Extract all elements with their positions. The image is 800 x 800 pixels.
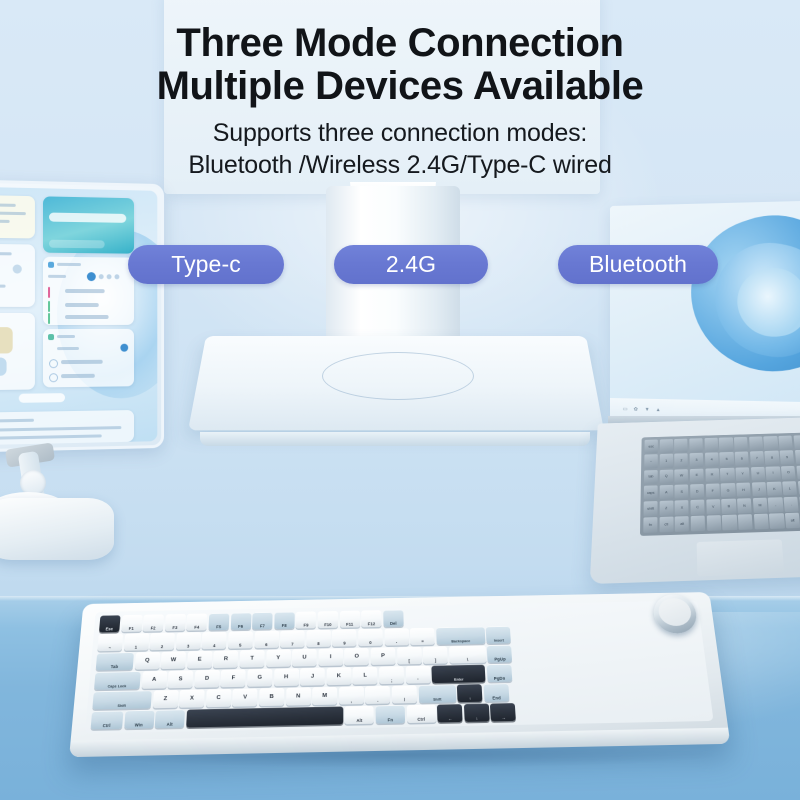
- laptop-key[interactable]: [749, 436, 763, 450]
- key-f12[interactable]: F12: [361, 610, 381, 627]
- key-ctrl[interactable]: Ctrl: [406, 705, 436, 723]
- laptop-key[interactable]: shift: [644, 501, 658, 516]
- key-k[interactable]: K: [327, 667, 352, 684]
- key-1[interactable]: 1: [124, 633, 150, 650]
- key-space[interactable]: [: [397, 647, 422, 664]
- mechanical-keyboard[interactable]: EscF1F2F3F4F5F6F7F8F9F10F11F12Del~123456…: [69, 592, 730, 757]
- search-widget-chip[interactable]: [49, 240, 105, 249]
- laptop-key[interactable]: alt: [675, 516, 689, 532]
- key-j[interactable]: J: [300, 668, 325, 685]
- key-p[interactable]: P: [371, 647, 396, 664]
- key-w[interactable]: W: [161, 651, 187, 668]
- key-space[interactable]: ~: [97, 634, 123, 651]
- key-9[interactable]: 9: [332, 629, 356, 646]
- laptop-key[interactable]: [691, 516, 705, 532]
- laptop-key[interactable]: [793, 435, 800, 449]
- key-l[interactable]: L: [353, 667, 378, 684]
- laptop-key[interactable]: B: [722, 499, 737, 514]
- key-pgdn[interactable]: PgDn: [486, 664, 512, 681]
- laptop-key[interactable]: 8: [765, 451, 780, 465]
- key-i[interactable]: I: [318, 648, 343, 665]
- key-b[interactable]: B: [259, 688, 284, 706]
- key-space[interactable]: -: [384, 628, 409, 645]
- laptop-key[interactable]: [689, 438, 703, 452]
- key-t[interactable]: T: [240, 650, 265, 667]
- key-f3[interactable]: F3: [165, 614, 186, 631]
- key-x[interactable]: X: [179, 690, 205, 708]
- widget-card-todo[interactable]: [43, 329, 134, 388]
- key-space[interactable]: ,: [339, 686, 364, 704]
- badge-type-c-label: Type-c: [171, 251, 241, 278]
- key-f11[interactable]: F11: [340, 611, 360, 628]
- laptop-key[interactable]: tab: [644, 470, 658, 485]
- laptop-trackpad[interactable]: [697, 539, 785, 576]
- chevron-up-icon[interactable]: ▲: [656, 407, 662, 413]
- key-f5[interactable]: F5: [208, 613, 229, 630]
- laptop-key[interactable]: S: [675, 484, 689, 499]
- network-icon[interactable]: ▭: [623, 406, 629, 412]
- laptop-key[interactable]: [707, 515, 722, 531]
- laptop-key[interactable]: ctl: [659, 517, 673, 533]
- laptop-key[interactable]: 0: [795, 450, 800, 464]
- tablet-device[interactable]: [0, 180, 164, 452]
- laptop-key[interactable]: 6: [735, 452, 749, 466]
- key-tab[interactable]: Tab: [96, 652, 134, 669]
- add-widgets-button[interactable]: [19, 393, 65, 403]
- key-end[interactable]: End: [483, 684, 509, 702]
- laptop-key[interactable]: K: [767, 481, 782, 496]
- key-enter[interactable]: Enter: [432, 665, 486, 683]
- key-shift[interactable]: Shift: [418, 685, 456, 703]
- key-f2[interactable]: F2: [143, 614, 164, 631]
- key-c[interactable]: C: [206, 689, 232, 707]
- key-u[interactable]: U: [292, 649, 317, 666]
- widget-card-note[interactable]: [0, 195, 35, 239]
- key-esc[interactable]: Esc: [99, 615, 121, 632]
- laptop-key[interactable]: 4: [705, 453, 719, 467]
- key-8[interactable]: 8: [306, 630, 330, 647]
- laptop-key[interactable]: caps: [644, 485, 658, 500]
- laptop-key[interactable]: C: [690, 500, 704, 515]
- laptop-key[interactable]: F: [706, 483, 720, 498]
- laptop-key[interactable]: O: [781, 466, 796, 480]
- key-space[interactable]: ↑: [457, 684, 483, 702]
- key-space[interactable]: ←: [437, 704, 463, 722]
- key-d[interactable]: D: [194, 670, 220, 687]
- laptop-key[interactable]: .: [784, 497, 799, 512]
- tablet-screen[interactable]: [0, 187, 157, 445]
- laptop-key[interactable]: [674, 439, 688, 453]
- key-7[interactable]: 7: [280, 630, 305, 647]
- laptop-key[interactable]: G: [721, 483, 735, 498]
- laptop-key[interactable]: 1: [659, 454, 673, 468]
- key-a[interactable]: A: [141, 671, 167, 688]
- key-f7[interactable]: F7: [252, 612, 273, 629]
- key-r[interactable]: R: [213, 650, 238, 667]
- key-space[interactable]: /: [392, 685, 417, 703]
- laptop-key[interactable]: Z: [659, 501, 673, 516]
- key-f6[interactable]: F6: [230, 613, 251, 630]
- laptop-keyboard[interactable]: escdel~1234567890-=bksptabQWERTYUIOP[]\c…: [640, 431, 800, 536]
- subheadline-line-2: Bluetooth /Wireless 2.4G/Type-C wired: [0, 150, 800, 182]
- laptop-screen: ▭ ✿ ▼ ▲: [610, 200, 800, 426]
- key-fn[interactable]: Fn: [376, 705, 406, 723]
- laptop-key[interactable]: N: [737, 498, 752, 513]
- key-f10[interactable]: F10: [318, 611, 338, 628]
- laptop-key[interactable]: fn: [643, 517, 657, 533]
- badge-bluetooth[interactable]: Bluetooth: [558, 245, 718, 284]
- laptop-key[interactable]: [722, 515, 737, 530]
- laptop-key[interactable]: [764, 436, 778, 450]
- laptop-key[interactable]: [660, 439, 673, 453]
- laptop-key[interactable]: [754, 514, 769, 529]
- tablet-stand-base: [0, 498, 114, 560]
- key-caps-lock[interactable]: Caps Lock: [94, 671, 141, 689]
- key-f[interactable]: F: [221, 669, 246, 686]
- key-m[interactable]: M: [312, 687, 337, 705]
- laptop-key[interactable]: 3: [690, 453, 704, 467]
- key-shift[interactable]: Shift: [92, 691, 152, 709]
- laptop-key[interactable]: A: [659, 485, 673, 500]
- widget-card-search[interactable]: [43, 196, 134, 253]
- laptop-key[interactable]: M: [753, 498, 768, 513]
- laptop-key[interactable]: 9: [780, 450, 795, 464]
- badge-bluetooth-label: Bluetooth: [589, 251, 687, 278]
- key-space[interactable]: .: [365, 686, 390, 704]
- laptop-key[interactable]: [769, 513, 784, 528]
- headline-line-2: Multiple Devices Available: [0, 65, 800, 108]
- laptop-key[interactable]: L: [782, 481, 797, 496]
- laptop-key[interactable]: H: [736, 482, 751, 497]
- laptop-key[interactable]: V: [706, 499, 720, 514]
- key-s[interactable]: S: [168, 670, 194, 687]
- key-ctrl[interactable]: Ctrl: [91, 711, 124, 729]
- key-f4[interactable]: F4: [187, 614, 208, 631]
- key-2[interactable]: 2: [150, 633, 175, 650]
- key-win[interactable]: Win: [124, 710, 155, 728]
- key-space[interactable]: →: [490, 703, 516, 721]
- key-y[interactable]: Y: [266, 649, 291, 666]
- laptop-key[interactable]: E: [690, 468, 704, 482]
- laptop-key[interactable]: U: [751, 466, 766, 480]
- laptop-key[interactable]: Q: [659, 469, 673, 484]
- widget-card-news[interactable]: [0, 410, 134, 445]
- laptop-key[interactable]: J: [752, 482, 767, 497]
- key-space[interactable]: ↓: [464, 704, 490, 722]
- key-space[interactable]: =: [410, 628, 435, 645]
- laptop-key[interactable]: I: [766, 466, 781, 480]
- key-3[interactable]: 3: [176, 632, 201, 649]
- laptop-key[interactable]: [704, 438, 718, 452]
- laptop-key[interactable]: X: [675, 500, 689, 515]
- sound-icon[interactable]: ✿: [634, 407, 640, 413]
- key-z[interactable]: Z: [152, 690, 178, 708]
- headline-line-1: Three Mode Connection: [0, 22, 800, 65]
- laptop-key[interactable]: W: [675, 469, 689, 484]
- key-space[interactable]: \: [449, 646, 487, 663]
- search-input[interactable]: [49, 213, 126, 223]
- key-f1[interactable]: F1: [121, 615, 142, 632]
- key-4[interactable]: 4: [202, 632, 227, 649]
- key-space[interactable]: ': [405, 666, 430, 683]
- key-del[interactable]: Del: [383, 610, 403, 627]
- key-e[interactable]: E: [187, 651, 212, 668]
- laptop-deck: escdel~1234567890-=bksptabQWERTYUIOP[]\c…: [590, 416, 800, 584]
- key-alt[interactable]: Alt: [155, 710, 185, 728]
- widget-card-calendar[interactable]: [43, 257, 134, 325]
- key-space[interactable]: ;: [379, 666, 404, 683]
- key-alt[interactable]: Alt: [345, 706, 374, 724]
- widget-card-weather[interactable]: [0, 244, 35, 307]
- key-0[interactable]: 0: [358, 629, 383, 646]
- laptop-key[interactable]: Y: [736, 467, 750, 481]
- key-q[interactable]: Q: [134, 652, 160, 669]
- windows-bloom-icon: [674, 205, 800, 407]
- laptop-key[interactable]: R: [705, 468, 719, 482]
- key-v[interactable]: V: [232, 688, 257, 706]
- volume-knob-face: [657, 598, 693, 626]
- key-f9[interactable]: F9: [296, 611, 316, 628]
- widget-card-photo[interactable]: [0, 313, 35, 390]
- laptop-key[interactable]: esc: [644, 440, 657, 454]
- monitor-base-ring: [322, 352, 474, 400]
- page-subtitle: Supports three connection modes: Bluetoo…: [0, 118, 800, 182]
- badge-type-c[interactable]: Type-c: [128, 245, 284, 284]
- key-insert[interactable]: Insert: [486, 626, 511, 643]
- laptop-key[interactable]: ,: [768, 497, 783, 512]
- key-space[interactable]: [186, 706, 343, 727]
- key-6[interactable]: 6: [254, 631, 279, 648]
- laptop-key[interactable]: 5: [720, 452, 734, 466]
- key-5[interactable]: 5: [228, 631, 253, 648]
- page-title: Three Mode Connection Multiple Devices A…: [0, 22, 800, 108]
- key-o[interactable]: O: [345, 648, 370, 665]
- key-pgup[interactable]: PgUp: [487, 645, 512, 662]
- key-f8[interactable]: F8: [274, 612, 294, 629]
- laptop-key[interactable]: [779, 436, 793, 450]
- wifi-icon[interactable]: ▼: [645, 407, 651, 413]
- laptop-key[interactable]: P: [796, 465, 800, 479]
- laptop-key[interactable]: 2: [675, 453, 689, 467]
- laptop-key[interactable]: ~: [644, 454, 658, 468]
- badge-2-4g[interactable]: 2.4G: [334, 245, 488, 284]
- key-backspace[interactable]: Backspace: [436, 627, 485, 644]
- laptop-key[interactable]: [734, 437, 748, 451]
- laptop-key[interactable]: [738, 514, 753, 529]
- laptop-key[interactable]: D: [690, 484, 704, 499]
- monitor-base-front-edge: [200, 432, 590, 446]
- laptop-key[interactable]: T: [720, 467, 734, 481]
- laptop-key[interactable]: 7: [750, 451, 764, 465]
- laptop-key[interactable]: [719, 437, 733, 451]
- laptop-key[interactable]: alt: [785, 513, 800, 528]
- product-marketing-image: ▭ ✿ ▼ ▲ escdel~1234567890-=bksptabQWERTY…: [0, 0, 800, 800]
- key-h[interactable]: H: [274, 668, 299, 685]
- badge-2-4g-label: 2.4G: [386, 251, 436, 278]
- key-g[interactable]: G: [247, 669, 272, 686]
- key-space[interactable]: ]: [423, 646, 448, 663]
- key-n[interactable]: N: [286, 687, 311, 705]
- subheadline-line-1: Supports three connection modes:: [0, 118, 800, 150]
